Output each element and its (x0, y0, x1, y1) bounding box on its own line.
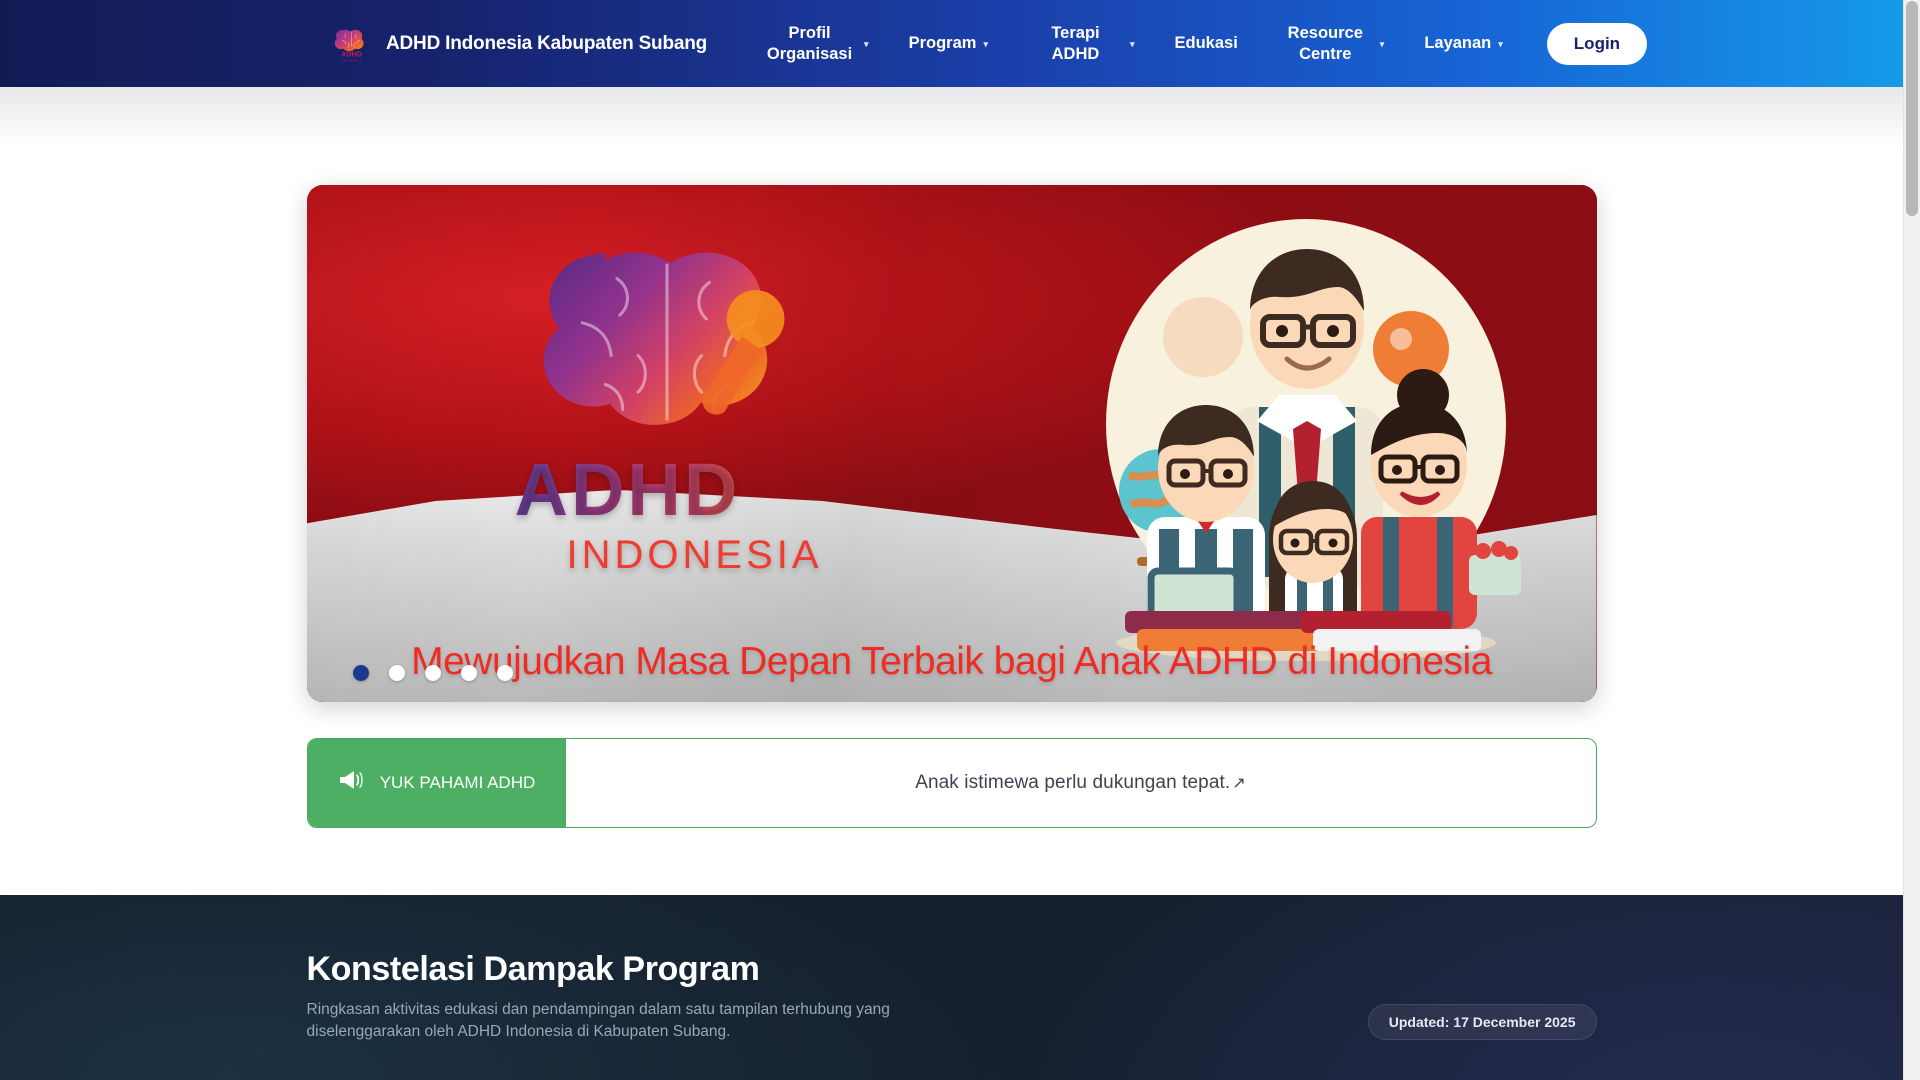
brand-name: ADHD Indonesia Kabupaten Subang (386, 33, 707, 55)
carousel-dot-4[interactable] (461, 665, 477, 681)
carousel-dots[interactable] (353, 665, 513, 681)
page-scroll-area[interactable]: ADHD INDONESIA ADHD Indonesia Kabupaten … (0, 0, 1903, 1080)
chevron-down-icon: ▾ (983, 40, 988, 49)
yuk-pahami-adhd-button[interactable]: YUK PAHAMI ADHD (308, 739, 566, 827)
nav-item-label: Program (909, 33, 977, 54)
nav-item-layanan[interactable]: Layanan ▾ (1404, 33, 1522, 54)
yuk-pahami-adhd-label: YUK PAHAMI ADHD (380, 772, 536, 795)
updated-badge: Updated: 17 December 2025 (1368, 1004, 1597, 1040)
announcement-bar: YUK PAHAMI ADHD Anak istimewa perlu duku… (307, 738, 1597, 828)
brain-illustration (512, 215, 822, 475)
nav-item-label: Terapi ADHD (1028, 23, 1123, 64)
brand-logo-link[interactable]: ADHD INDONESIA ADHD Indonesia Kabupaten … (330, 22, 707, 65)
logo-text-primary: ADHD (341, 49, 362, 58)
hero-wordmark-primary: ADHD (515, 453, 955, 527)
chevron-down-icon: ▾ (1130, 40, 1135, 49)
nav-item-label: Edukasi (1175, 33, 1238, 54)
impact-section: Konstelasi Dampak Program Ringkasan akti… (0, 895, 1903, 1080)
nav-item-program[interactable]: Program ▾ (889, 33, 1008, 54)
logo-text-secondary: INDONESIA (343, 59, 362, 63)
browser-viewport: ADHD INDONESIA ADHD Indonesia Kabupaten … (0, 0, 1920, 1080)
impact-section-subtitle: Ringkasan aktivitas edukasi dan pendampi… (307, 999, 947, 1044)
nav-item-label: Profil Organisasi (762, 23, 857, 64)
nav-item-resource-centre[interactable]: Resource Centre ▾ (1258, 23, 1405, 64)
carousel-dot-2[interactable] (389, 665, 405, 681)
chevron-down-icon: ▾ (864, 40, 869, 49)
chevron-down-icon: ▾ (1380, 40, 1385, 49)
hero-carousel[interactable]: ADHD INDONESIA (307, 185, 1597, 702)
login-button[interactable]: Login (1547, 23, 1647, 65)
main-navbar: ADHD INDONESIA ADHD Indonesia Kabupaten … (0, 0, 1903, 87)
hero-section: ADHD INDONESIA (0, 87, 1903, 702)
page-scrollbar[interactable] (1903, 0, 1920, 1080)
arrow-up-right-icon: ↗ (1232, 773, 1246, 793)
chevron-down-icon: ▾ (1498, 40, 1503, 49)
nav-item-terapi-adhd[interactable]: Terapi ADHD ▾ (1008, 23, 1155, 64)
carousel-dot-1[interactable] (353, 665, 369, 681)
announcement-message-text: Anak istimewa perlu dukungan tepat. (915, 772, 1230, 794)
scrollbar-thumb[interactable] (1906, 1, 1918, 216)
nav-item-edukasi[interactable]: Edukasi (1155, 33, 1258, 54)
family-illustration (1051, 199, 1561, 669)
carousel-dot-5[interactable] (497, 665, 513, 681)
nav-item-label: Resource Centre (1278, 23, 1373, 64)
nav-links: Profil Organisasi ▾ Program ▾ Terapi ADH… (742, 23, 1647, 65)
brain-logo-icon: ADHD INDONESIA (330, 22, 373, 65)
announcement-message[interactable]: Anak istimewa perlu dukungan tepat. ↗ (566, 739, 1596, 827)
hero-wordmark: ADHD INDONESIA (515, 453, 955, 575)
megaphone-icon (338, 769, 364, 798)
nav-item-label: Layanan (1424, 33, 1491, 54)
carousel-dot-3[interactable] (425, 665, 441, 681)
nav-item-profil-organisasi[interactable]: Profil Organisasi ▾ (742, 23, 889, 64)
impact-section-title: Konstelasi Dampak Program (307, 950, 947, 989)
hero-wordmark-secondary: INDONESIA (567, 535, 955, 575)
